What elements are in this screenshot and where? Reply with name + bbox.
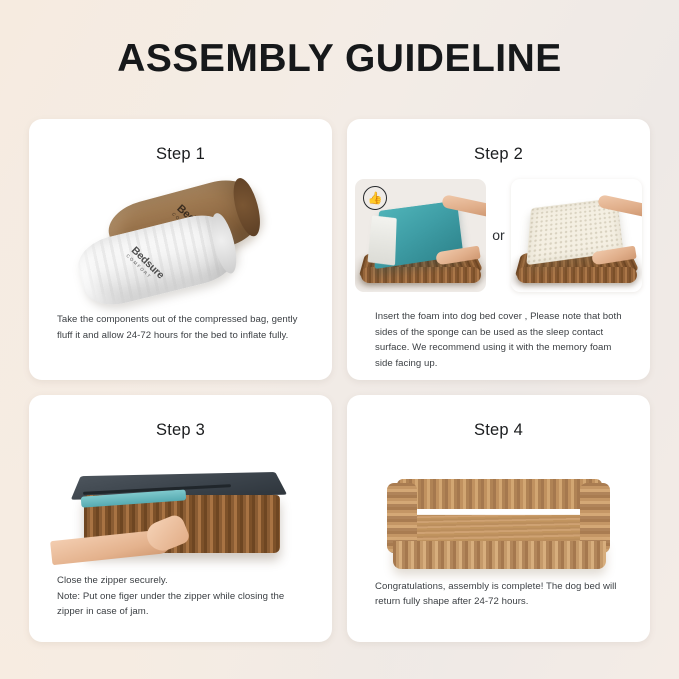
step-card-1: Step 1 Bedsure COMFORT Bedsure COMFORT	[29, 119, 332, 380]
step-1-heading: Step 1	[29, 145, 332, 164]
assembly-guideline-page: ASSEMBLY GUIDELINE Step 1 Bedsure COMFOR…	[0, 0, 679, 679]
step-card-2: Step 2 👍 or	[347, 119, 650, 380]
step-2-caption: Insert the foam into dog bed cover , Ple…	[375, 309, 628, 371]
step-4-heading: Step 4	[347, 421, 650, 440]
or-separator: or	[492, 227, 504, 243]
step-2-panel-pair: 👍 or	[347, 176, 650, 294]
rolled-bags-illustration: Bedsure COMFORT Bedsure COMFORT	[29, 177, 332, 305]
white-bag-brand-label: Bedsure COMFORT	[126, 245, 167, 285]
step-4-image	[347, 457, 650, 587]
bed-mattress-surface	[397, 515, 603, 543]
bed-rim-right	[517, 267, 637, 283]
zipper-illustration	[29, 457, 332, 585]
step-card-4: Step 4 Congratulations, assembly is comp…	[347, 395, 650, 642]
bed-backrest-bolster	[397, 479, 602, 509]
page-title: ASSEMBLY GUIDELINE	[0, 38, 679, 81]
step-3-heading: Step 3	[29, 421, 332, 440]
step-3-image	[29, 457, 332, 585]
step-card-3: Step 3 Close the zipper securely. Note: …	[29, 395, 332, 642]
step-2-heading: Step 2	[347, 145, 650, 164]
step-1-image: Bedsure COMFORT Bedsure COMFORT	[29, 177, 332, 305]
step-2-right-panel	[511, 179, 642, 292]
step-1-caption: Take the components out of the compresse…	[57, 312, 310, 343]
thumbs-up-icon: 👍	[363, 186, 387, 210]
step-2-left-panel: 👍	[355, 179, 486, 292]
bed-front-edge	[393, 541, 606, 569]
finished-bed-illustration	[347, 457, 650, 587]
step-3-caption: Close the zipper securely. Note: Put one…	[57, 573, 310, 620]
step-2-image: 👍 or	[347, 176, 650, 294]
bed-rim-left	[361, 267, 481, 283]
step-4-caption: Congratulations, assembly is complete! T…	[375, 579, 628, 610]
steps-grid: Step 1 Bedsure COMFORT Bedsure COMFORT	[29, 119, 650, 642]
